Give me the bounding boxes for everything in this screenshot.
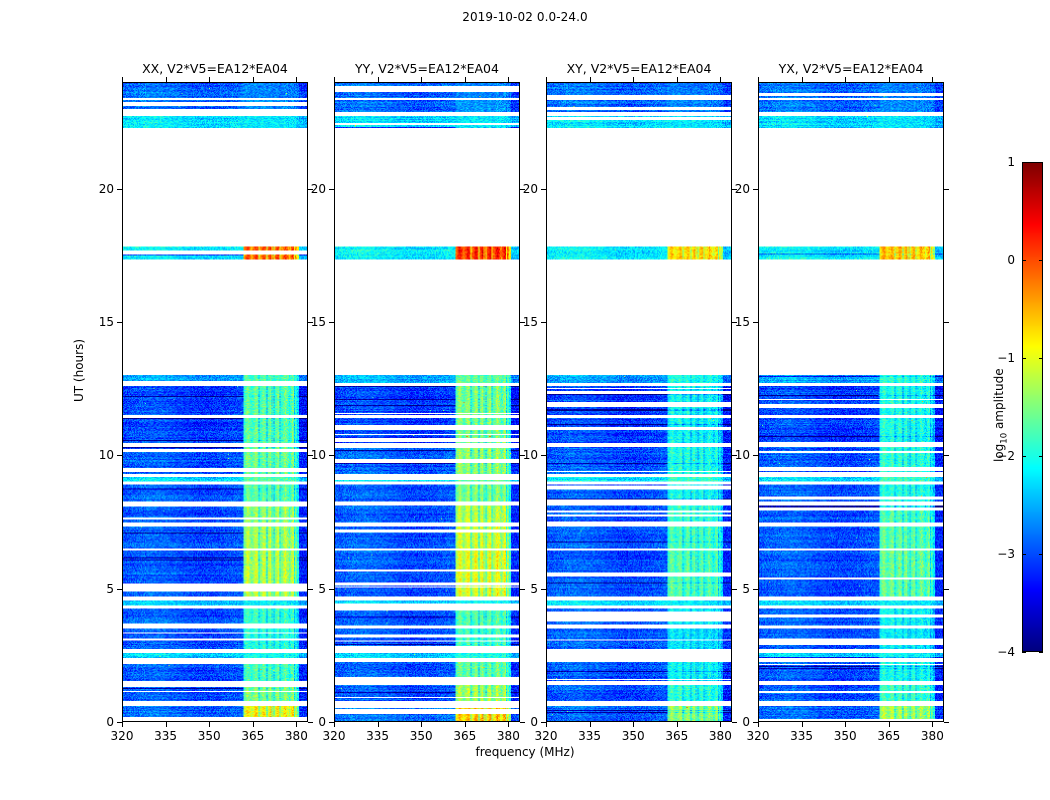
x-tick-mark: [465, 722, 466, 727]
colorbar-tick-mark-right: [1039, 162, 1043, 163]
y-tick-label: 5: [530, 582, 538, 596]
colorbar-tick-label: −3: [997, 547, 1015, 561]
x-tick-mark: [508, 722, 509, 727]
y-tick-label: 20: [523, 182, 538, 196]
y-tick-label: 0: [742, 715, 750, 729]
y-tick-label: 0: [530, 715, 538, 729]
colorbar-tick-mark-right: [1039, 652, 1043, 653]
x-tick-label: 365: [241, 729, 264, 743]
colorbar-tick-label: 1: [1007, 155, 1015, 169]
y-tick-mark: [753, 589, 758, 590]
x-tick-mark: [889, 722, 890, 727]
x-tick-mark-top: [546, 77, 547, 82]
x-tick-label: 335: [154, 729, 177, 743]
y-tick-label: 10: [735, 448, 750, 462]
y-tick-mark-right: [308, 722, 313, 723]
x-axis-label: frequency (MHz): [0, 745, 1050, 759]
y-tick-mark-right: [520, 589, 525, 590]
colorbar-tick-mark-right: [1039, 554, 1043, 555]
panel-title-yx: YX, V2*V5=EA12*EA04: [758, 61, 944, 82]
colorbar-tick-label: −1: [997, 351, 1015, 365]
x-tick-mark-top: [720, 77, 721, 82]
y-tick-mark: [329, 189, 334, 190]
x-tick-mark: [633, 722, 634, 727]
x-tick-mark: [845, 722, 846, 727]
dynamic-spectrum-image-yx: [759, 83, 943, 721]
y-tick-mark: [117, 589, 122, 590]
dynamic-spectrum-image-xy: [547, 83, 731, 721]
axes-frame-yy: [334, 82, 520, 722]
x-tick-mark: [253, 722, 254, 727]
x-tick-label: 350: [410, 729, 433, 743]
x-tick-mark: [378, 722, 379, 727]
axes-frame-xx: [122, 82, 308, 722]
y-tick-label: 15: [735, 315, 750, 329]
y-tick-mark: [753, 322, 758, 323]
x-tick-mark-top: [209, 77, 210, 82]
colorbar-label: log10 amplitude: [992, 368, 1009, 462]
y-tick-label: 15: [311, 315, 326, 329]
x-tick-mark: [590, 722, 591, 727]
x-tick-mark-top: [334, 77, 335, 82]
colorbar-tick-mark: [1022, 260, 1026, 261]
x-tick-mark: [209, 722, 210, 727]
x-tick-label: 365: [453, 729, 476, 743]
y-tick-label: 5: [318, 582, 326, 596]
x-tick-label: 335: [790, 729, 813, 743]
colorbar-tick-label: 0: [1007, 253, 1015, 267]
x-tick-label: 380: [285, 729, 308, 743]
y-tick-mark: [541, 189, 546, 190]
spectrum-panel-yy: YY, V2*V5=EA12*EA04051015203203353503653…: [334, 82, 520, 722]
x-tick-mark: [758, 722, 759, 727]
y-tick-mark-right: [944, 189, 949, 190]
y-tick-mark: [117, 322, 122, 323]
y-tick-label: 15: [523, 315, 538, 329]
y-tick-mark: [753, 455, 758, 456]
colorbar-tick-mark-right: [1039, 456, 1043, 457]
panel-title-xx: XX, V2*V5=EA12*EA04: [122, 61, 308, 82]
colorbar-label-subscript: 10: [999, 433, 1009, 444]
y-tick-mark: [329, 455, 334, 456]
x-tick-mark-top: [296, 77, 297, 82]
y-tick-mark-right: [944, 455, 949, 456]
colorbar-label-main: log: [992, 444, 1006, 462]
x-tick-mark-top: [378, 77, 379, 82]
x-tick-label: 320: [111, 729, 134, 743]
x-tick-mark-top: [633, 77, 634, 82]
panel-title-yy: YY, V2*V5=EA12*EA04: [334, 61, 520, 82]
y-tick-mark-right: [944, 722, 949, 723]
colorbar-tick-mark: [1022, 652, 1026, 653]
y-tick-mark: [329, 589, 334, 590]
x-tick-mark-top: [932, 77, 933, 82]
y-tick-label: 15: [99, 315, 114, 329]
colorbar-gradient: [1022, 162, 1043, 652]
y-tick-label: 0: [106, 715, 114, 729]
x-tick-mark-top: [253, 77, 254, 82]
colorbar-label-tail: amplitude: [992, 368, 1006, 432]
x-tick-label: 350: [622, 729, 645, 743]
x-tick-mark-top: [590, 77, 591, 82]
x-tick-mark: [720, 722, 721, 727]
y-tick-mark-right: [944, 589, 949, 590]
x-tick-label: 380: [709, 729, 732, 743]
y-tick-label: 10: [311, 448, 326, 462]
x-tick-mark-top: [508, 77, 509, 82]
dynamic-spectrum-image-xx: [123, 83, 307, 721]
colorbar: −4−3−2−101: [1022, 162, 1043, 652]
x-tick-mark: [421, 722, 422, 727]
x-tick-mark: [932, 722, 933, 727]
x-tick-mark: [677, 722, 678, 727]
y-tick-label: 10: [99, 448, 114, 462]
x-tick-label: 335: [366, 729, 389, 743]
y-tick-label: 0: [318, 715, 326, 729]
y-tick-mark: [541, 589, 546, 590]
x-tick-label: 320: [535, 729, 558, 743]
x-tick-mark: [546, 722, 547, 727]
x-tick-mark-top: [166, 77, 167, 82]
colorbar-tick-mark: [1022, 358, 1026, 359]
x-tick-label: 380: [921, 729, 944, 743]
x-tick-mark: [166, 722, 167, 727]
y-tick-mark: [329, 322, 334, 323]
panel-title-xy: XY, V2*V5=EA12*EA04: [546, 61, 732, 82]
x-tick-label: 365: [665, 729, 688, 743]
y-axis-label: UT (hours): [72, 339, 86, 402]
dynamic-spectrum-image-yy: [335, 83, 519, 721]
y-tick-label: 20: [735, 182, 750, 196]
y-tick-mark-right: [732, 589, 737, 590]
spectrum-panel-xy: XY, V2*V5=EA12*EA04051015203203353503653…: [546, 82, 732, 722]
y-tick-label: 20: [99, 182, 114, 196]
x-tick-mark-top: [758, 77, 759, 82]
x-tick-mark-top: [465, 77, 466, 82]
x-tick-label: 335: [578, 729, 601, 743]
figure-canvas: 2019-10-02 0.0-24.0 XX, V2*V5=EA12*EA040…: [0, 0, 1050, 800]
axes-frame-xy: [546, 82, 732, 722]
x-tick-mark: [122, 722, 123, 727]
x-tick-label: 320: [747, 729, 770, 743]
x-tick-label: 350: [834, 729, 857, 743]
x-tick-mark-top: [802, 77, 803, 82]
x-tick-mark: [296, 722, 297, 727]
x-tick-mark-top: [889, 77, 890, 82]
y-tick-label: 20: [311, 182, 326, 196]
y-tick-label: 10: [523, 448, 538, 462]
colorbar-tick-mark: [1022, 554, 1026, 555]
x-tick-label: 380: [497, 729, 520, 743]
y-tick-mark: [753, 189, 758, 190]
x-tick-label: 365: [877, 729, 900, 743]
colorbar-tick-mark: [1022, 456, 1026, 457]
y-tick-mark: [541, 455, 546, 456]
y-tick-mark-right: [944, 322, 949, 323]
spectrum-panel-yx: YX, V2*V5=EA12*EA04051015203203353503653…: [758, 82, 944, 722]
axes-frame-yx: [758, 82, 944, 722]
x-tick-mark-top: [122, 77, 123, 82]
y-tick-mark-right: [308, 589, 313, 590]
y-tick-label: 5: [742, 582, 750, 596]
colorbar-tick-mark-right: [1039, 260, 1043, 261]
colorbar-tick-label: −4: [997, 645, 1015, 659]
y-tick-mark-right: [520, 722, 525, 723]
spectrum-panel-xx: XX, V2*V5=EA12*EA04051015203203353503653…: [122, 82, 308, 722]
x-tick-label: 350: [198, 729, 221, 743]
y-tick-mark: [117, 189, 122, 190]
colorbar-tick-mark-right: [1039, 358, 1043, 359]
x-tick-mark: [802, 722, 803, 727]
x-tick-mark: [334, 722, 335, 727]
x-tick-mark-top: [845, 77, 846, 82]
y-tick-mark: [541, 322, 546, 323]
figure-suptitle: 2019-10-02 0.0-24.0: [0, 10, 1050, 24]
y-tick-label: 5: [106, 582, 114, 596]
y-tick-mark-right: [732, 722, 737, 723]
x-tick-label: 320: [323, 729, 346, 743]
x-tick-mark-top: [421, 77, 422, 82]
x-tick-mark-top: [677, 77, 678, 82]
colorbar-tick-mark: [1022, 162, 1026, 163]
y-tick-mark: [117, 455, 122, 456]
